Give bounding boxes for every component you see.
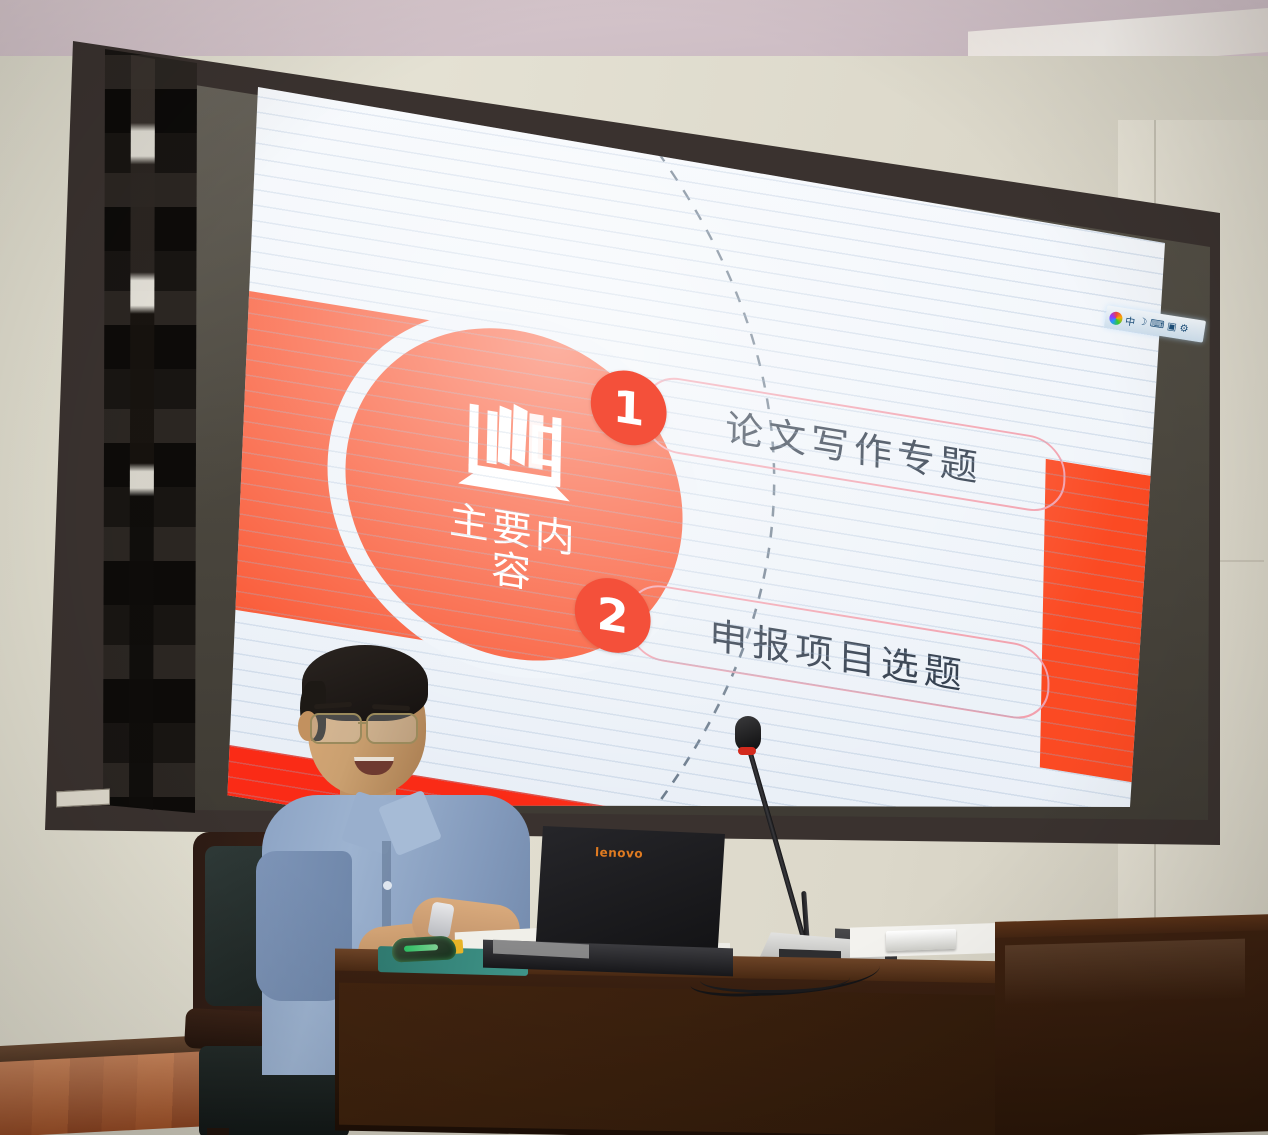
desk-front-face bbox=[339, 983, 999, 1135]
glasses bbox=[308, 713, 432, 743]
keyboard-icon[interactable]: ⌨ bbox=[1149, 318, 1165, 331]
glasses-bridge bbox=[358, 722, 368, 724]
presenter-desk bbox=[335, 955, 1015, 1135]
glasses-lens-right bbox=[366, 713, 418, 744]
settings-icon[interactable]: ⚙ bbox=[1179, 322, 1190, 334]
lenovo-logo: lenovo bbox=[595, 845, 644, 861]
slide-item-2: 2 申报项目选题 bbox=[574, 571, 1050, 724]
side-desk bbox=[995, 918, 1268, 1135]
side-desk-sheen bbox=[1005, 939, 1245, 1006]
shirt-button-upper bbox=[383, 881, 392, 890]
main-content-label: 主要内容 bbox=[437, 498, 588, 606]
laptop: lenovo bbox=[483, 826, 743, 976]
slide-item-1-label: 论文写作专题 bbox=[725, 397, 983, 492]
sogou-pinyin-logo[interactable] bbox=[1109, 310, 1124, 325]
slide-item-2-label: 申报项目选题 bbox=[709, 604, 967, 699]
moon-icon[interactable]: ☽ bbox=[1137, 316, 1148, 328]
eraser-box bbox=[886, 929, 956, 951]
ime-mode-indicator[interactable]: 中 bbox=[1124, 312, 1136, 328]
glasses-lens-left bbox=[310, 713, 362, 744]
slide-item-1-pill: 论文写作专题 bbox=[642, 372, 1066, 516]
mic-indicator-ring bbox=[738, 747, 756, 755]
chair-leg bbox=[207, 1128, 229, 1135]
mic-gooseneck bbox=[747, 749, 807, 943]
gooseneck-microphone bbox=[735, 716, 865, 961]
cable-secondary bbox=[700, 962, 850, 993]
lecture-room-photo: 主要内容 1 论文写作专题 2 申报项目选题 bbox=[0, 0, 1268, 1135]
screen-model-label bbox=[56, 789, 110, 808]
books-on-monitor-icon bbox=[452, 385, 578, 514]
toolbox-icon[interactable]: ▣ bbox=[1166, 321, 1177, 333]
slide-item-2-pill: 申报项目选题 bbox=[626, 580, 1050, 724]
